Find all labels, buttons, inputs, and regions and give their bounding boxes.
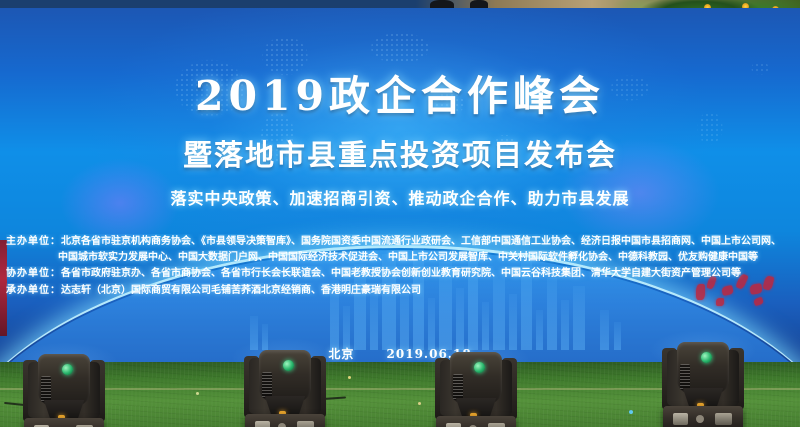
fixture-vent	[680, 364, 690, 390]
credit-label: 协办单位：	[6, 268, 61, 279]
fixture-head	[677, 342, 729, 394]
event-slogan: 落实中央政策、加速招商引资、推动政企合作、助力市县发展	[0, 185, 800, 209]
fixture-base	[436, 416, 516, 427]
fixture-control-panel	[255, 421, 270, 427]
fixture-base	[24, 418, 104, 427]
fixture-lens-icon	[701, 352, 712, 363]
fixture-display-panel	[297, 421, 314, 427]
fixture-control-panel	[673, 413, 688, 425]
credit-text: 中国城市软实力发展中心、中国大数据门户网、中国国际经济技术促进会、中国上市公司发…	[58, 252, 758, 263]
moving-head-light-2	[243, 348, 327, 427]
credit-text: 达志轩（北京）国际商贸有限公司毛铺苦荞酒北京经销商、香港明庄豪瑞有限公司	[61, 285, 421, 296]
credit-label: 主办单位：	[6, 236, 61, 247]
fixture-display-panel	[715, 413, 732, 425]
credit-text: 各省市政府驻京办、各省市商协会、各省市行长会长联谊会、中国老教授协会创新创业教育…	[61, 268, 741, 279]
fixture-vent	[262, 372, 272, 398]
turf-speck	[629, 410, 633, 414]
fixture-display-panel	[488, 423, 505, 427]
credit-text: 北京各省市驻京机构商务协会、《市县领导决策智库》、国务院国资委中国流通行业政研会…	[61, 236, 781, 247]
event-subtitle: 暨落地市县重点投资项目发布会	[0, 132, 800, 174]
fixture-lens-icon	[62, 364, 73, 375]
fixture-head	[450, 352, 502, 404]
organizer-credits-block: 主办单位：北京各省市驻京机构商务协会、《市县领导决策智库》、国务院国资委中国流通…	[6, 234, 798, 299]
fixture-lens-icon	[474, 362, 485, 373]
turf-speck	[196, 392, 199, 395]
fixture-head	[38, 354, 90, 406]
conference-stage-photo: 2019政企合作峰会 暨落地市县重点投资项目发布会 落实中央政策、加速招商引资、…	[0, 0, 800, 427]
turf-speck	[418, 402, 421, 405]
moving-head-light-1	[22, 352, 106, 427]
fixture-knob	[696, 415, 704, 423]
fixture-vent	[41, 376, 51, 402]
credit-row: 协办单位：各省市政府驻京办、各省市商协会、各省市行长会长联谊会、中国老教授协会创…	[6, 266, 798, 282]
fixture-base	[663, 406, 743, 427]
fixture-head	[259, 350, 311, 402]
event-title: 2019政企合作峰会	[0, 62, 800, 122]
moving-head-light-4	[661, 340, 745, 427]
credit-row: 中国城市软实力发展中心、中国大数据门户网、中国国际经济技术促进会、中国上市公司发…	[6, 250, 798, 266]
fixture-control-panel	[446, 423, 461, 427]
fixture-knob	[278, 423, 286, 427]
credit-row: 主办单位：北京各省市驻京机构商务协会、《市县领导决策智库》、国务院国资委中国流通…	[6, 234, 798, 250]
fixture-lens-icon	[283, 360, 294, 371]
fixture-vent	[453, 374, 463, 400]
fixture-base	[245, 414, 325, 427]
credit-row: 承办单位：达志轩（北京）国际商贸有限公司毛铺苦荞酒北京经销商、香港明庄豪瑞有限公…	[6, 283, 798, 299]
moving-head-light-3	[434, 350, 518, 427]
turf-speck	[348, 376, 351, 379]
credit-label: 承办单位：	[6, 285, 61, 296]
